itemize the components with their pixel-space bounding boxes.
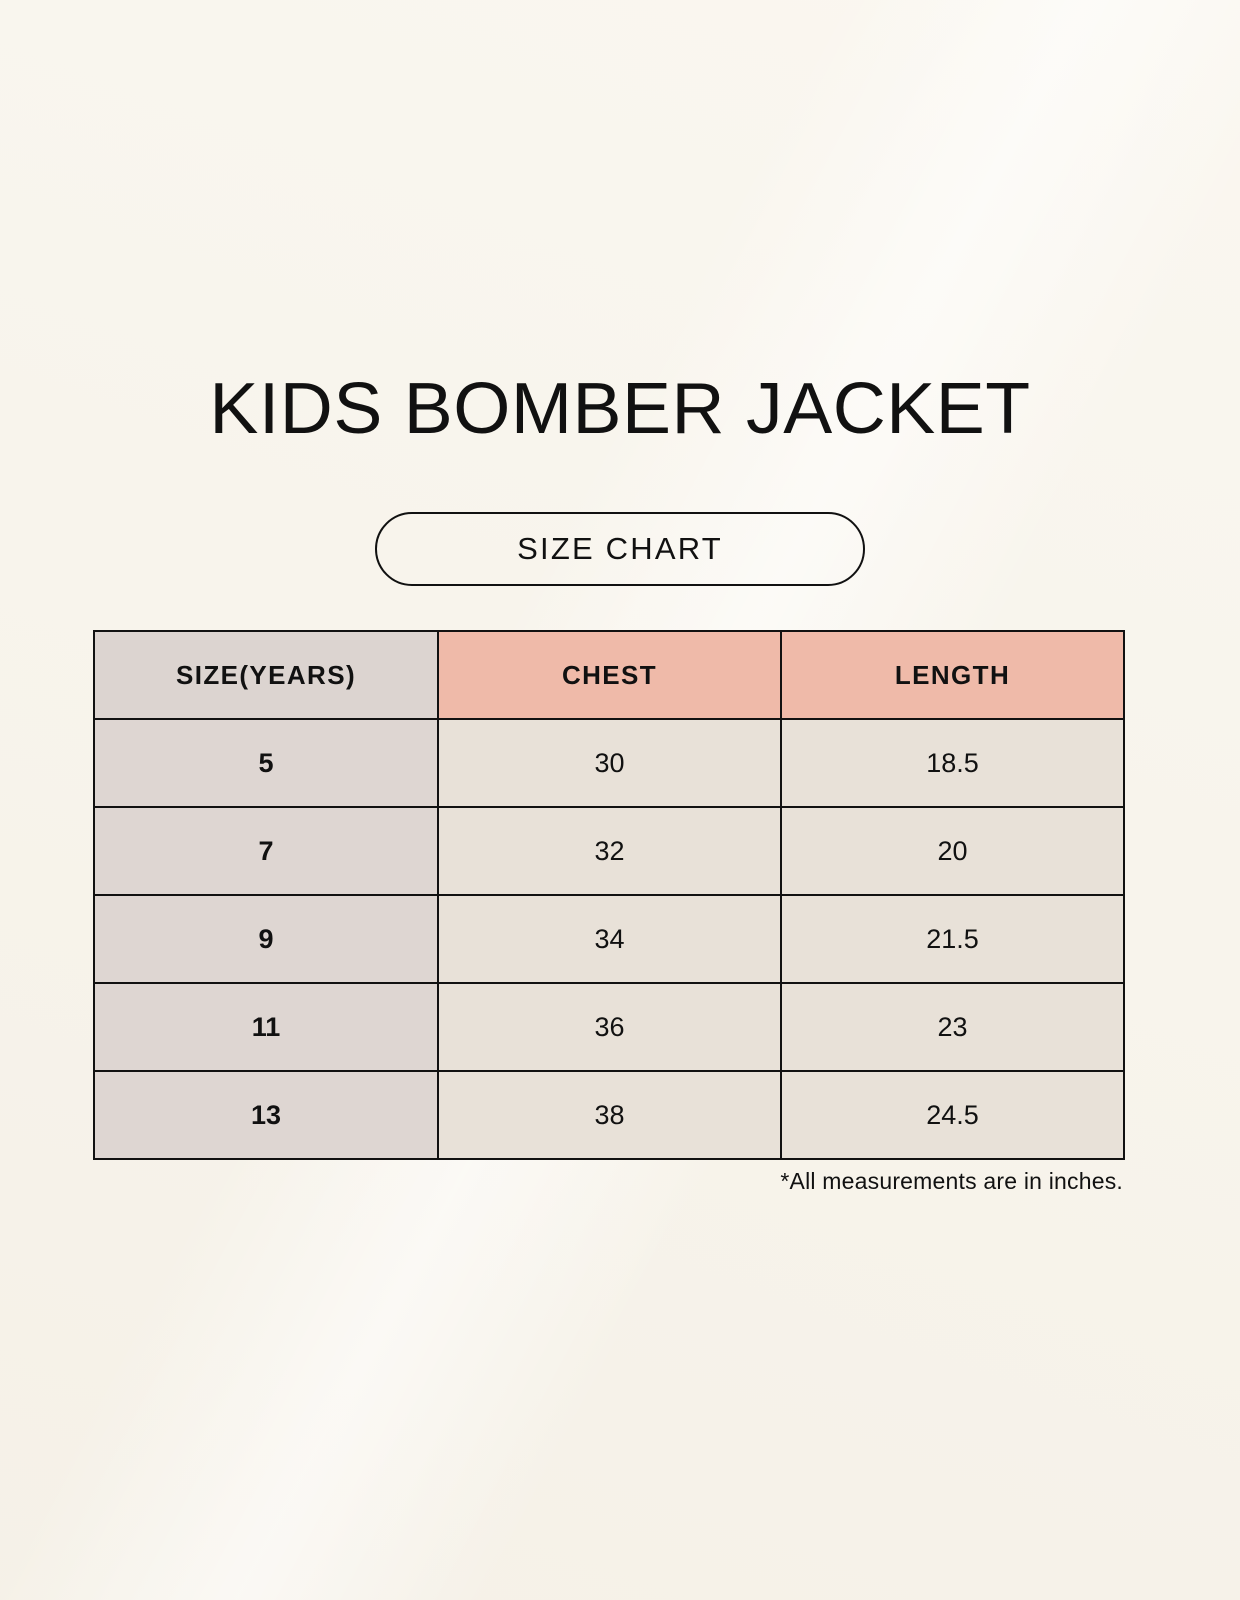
cell-size: 5 [94,719,438,807]
table-header-row: SIZE(YEARS) CHEST LENGTH [94,631,1124,719]
cell-length: 21.5 [781,895,1124,983]
cell-chest: 34 [438,895,781,983]
cell-size: 13 [94,1071,438,1159]
column-header-chest: CHEST [438,631,781,719]
size-table-body: 5 30 18.5 7 32 20 9 34 21.5 11 36 23 [94,719,1124,1159]
cell-chest: 36 [438,983,781,1071]
table-row: 13 38 24.5 [94,1071,1124,1159]
cell-length: 20 [781,807,1124,895]
size-table: SIZE(YEARS) CHEST LENGTH 5 30 18.5 7 32 … [93,630,1125,1160]
table-row: 11 36 23 [94,983,1124,1071]
cell-size: 11 [94,983,438,1071]
cell-chest: 38 [438,1071,781,1159]
size-chart-badge: SIZE CHART [375,512,865,586]
column-header-size: SIZE(YEARS) [94,631,438,719]
cell-chest: 30 [438,719,781,807]
cell-size: 7 [94,807,438,895]
size-table-header: SIZE(YEARS) CHEST LENGTH [94,631,1124,719]
cell-length: 18.5 [781,719,1124,807]
table-row: 9 34 21.5 [94,895,1124,983]
page-title: KIDS BOMBER JACKET [0,373,1240,445]
size-table-container: SIZE(YEARS) CHEST LENGTH 5 30 18.5 7 32 … [93,630,1123,1160]
cell-length: 24.5 [781,1071,1124,1159]
cell-length: 23 [781,983,1124,1071]
table-row: 5 30 18.5 [94,719,1124,807]
size-chart-page: KIDS BOMBER JACKET SIZE CHART SIZE(YEARS… [0,0,1240,1600]
cell-chest: 32 [438,807,781,895]
size-chart-badge-label: SIZE CHART [517,531,723,567]
table-row: 7 32 20 [94,807,1124,895]
column-header-length: LENGTH [781,631,1124,719]
measurement-note: *All measurements are in inches. [93,1168,1123,1195]
cell-size: 9 [94,895,438,983]
